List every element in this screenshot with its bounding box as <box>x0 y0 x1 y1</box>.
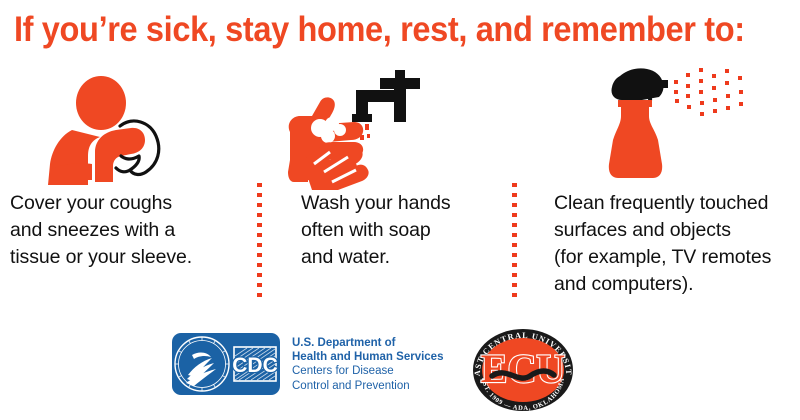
spray-bottle-icon-wrap <box>522 60 800 190</box>
wash-hands-caption: Wash your hands often with soap and wate… <box>268 190 501 271</box>
tip-column-wash-hands: Wash your hands often with soap and wate… <box>268 60 498 271</box>
caption-line: Wash your hands <box>301 190 501 217</box>
caption-line: surfaces and objects <box>554 217 800 244</box>
caption-line: often with soap <box>301 217 501 244</box>
spray-bottle-icon <box>522 60 800 190</box>
caption-line: and water. <box>301 244 501 271</box>
tip-column-clean-surfaces: Clean frequently touched surfaces and ob… <box>522 60 800 298</box>
cough-icon-wrap <box>0 60 250 190</box>
washing-hands-faucet-icon <box>268 60 498 190</box>
logo-row: CDC U.S. Department of Health and Human … <box>0 326 800 420</box>
clean-surfaces-caption: Clean frequently touched surfaces and ob… <box>522 190 800 298</box>
caption-line: and computers). <box>554 271 800 298</box>
cdc-wordmark: CDC <box>232 354 278 377</box>
cdc-logo: CDC U.S. Department of Health and Human … <box>172 333 443 395</box>
caption-line: tissue or your sleeve. <box>10 244 225 271</box>
tip-column-cough: Cover your coughs and sneezes with a tis… <box>0 60 250 271</box>
caption-line: and sneezes with a <box>10 217 225 244</box>
caption-line: Clean frequently touched <box>554 190 800 217</box>
wash-hands-icon-wrap <box>268 60 498 190</box>
page-title: If you’re sick, stay home, rest, and rem… <box>14 8 732 52</box>
caption-line: (for example, TV remotes <box>554 244 800 271</box>
ecu-seal-logo: EAST CENTRAL UNIVERSITY EST. 1909 — ADA,… <box>468 326 578 414</box>
column-divider <box>512 183 517 303</box>
ecu-monogram: ECU <box>481 346 565 391</box>
cdc-logo-mark: CDC <box>172 333 280 395</box>
hhs-seal-icon: CDC <box>172 333 280 395</box>
cdc-agency-text: U.S. Department of Health and Human Serv… <box>292 336 443 393</box>
cough-caption: Cover your coughs and sneezes with a tis… <box>0 190 225 271</box>
cdc-text-line: Health and Human Services <box>292 350 443 364</box>
column-divider <box>257 183 262 303</box>
ecu-seal-icon: EAST CENTRAL UNIVERSITY EST. 1909 — ADA,… <box>468 326 578 414</box>
cough-into-sleeve-icon <box>0 60 250 190</box>
cdc-text-line: Control and Prevention <box>292 379 443 393</box>
cdc-text-line: Centers for Disease <box>292 364 443 378</box>
cdc-text-line: U.S. Department of <box>292 336 443 350</box>
caption-line: Cover your coughs <box>10 190 225 217</box>
